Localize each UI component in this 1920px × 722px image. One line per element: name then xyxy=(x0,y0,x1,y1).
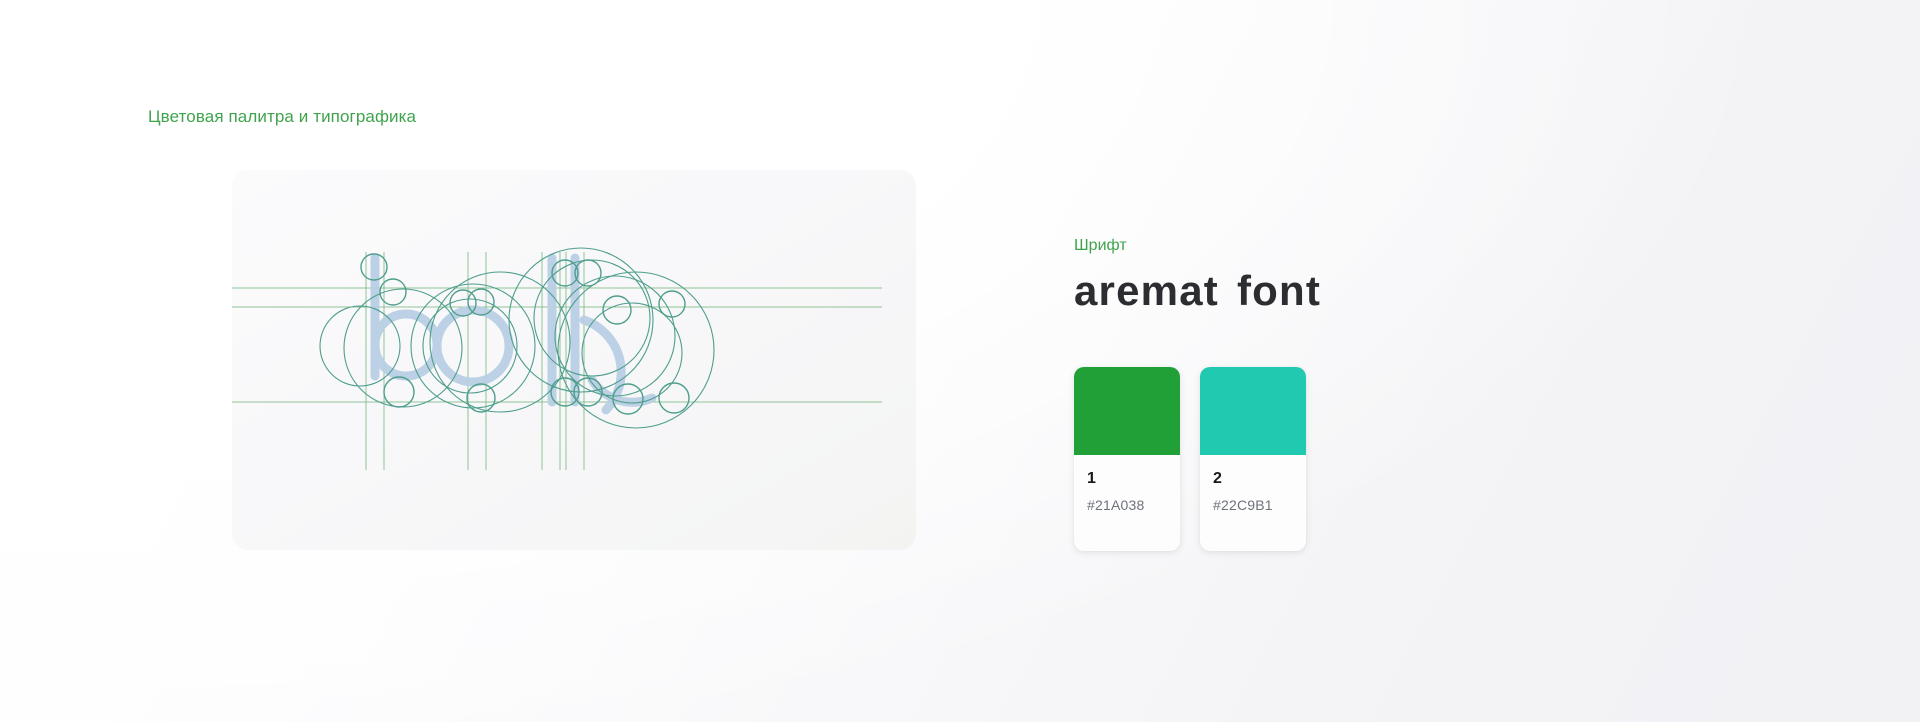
color-swatch-meta: 1 #21A038 xyxy=(1074,455,1180,551)
color-chip xyxy=(1074,367,1180,455)
font-sample-word-1: aremat xyxy=(1074,267,1219,314)
font-sample-word-2: font xyxy=(1237,267,1321,314)
logo-construction-grid xyxy=(232,170,916,550)
color-swatch-card[interactable]: 2 #22C9B1 xyxy=(1200,367,1306,551)
color-chip xyxy=(1200,367,1306,455)
horizontal-guides xyxy=(232,288,882,402)
color-swatch-meta: 2 #22C9B1 xyxy=(1200,455,1306,551)
font-sample-text: arematfont xyxy=(1074,266,1594,316)
color-swatch-index: 2 xyxy=(1213,469,1293,489)
color-palette: 1 #21A038 2 #22C9B1 xyxy=(1074,367,1306,551)
logo-construction-card xyxy=(232,170,916,550)
color-swatch-index: 1 xyxy=(1087,469,1167,489)
page-title: Цветовая палитра и типографика xyxy=(148,106,416,128)
color-swatch-hex: #22C9B1 xyxy=(1213,496,1293,514)
font-section-label: Шрифт xyxy=(1074,236,1594,256)
logo-letter-strokes xyxy=(375,258,652,410)
color-swatch-card[interactable]: 1 #21A038 xyxy=(1074,367,1180,551)
color-swatch-hex: #21A038 xyxy=(1087,496,1167,514)
typography-block: Шрифт arematfont xyxy=(1074,236,1594,316)
